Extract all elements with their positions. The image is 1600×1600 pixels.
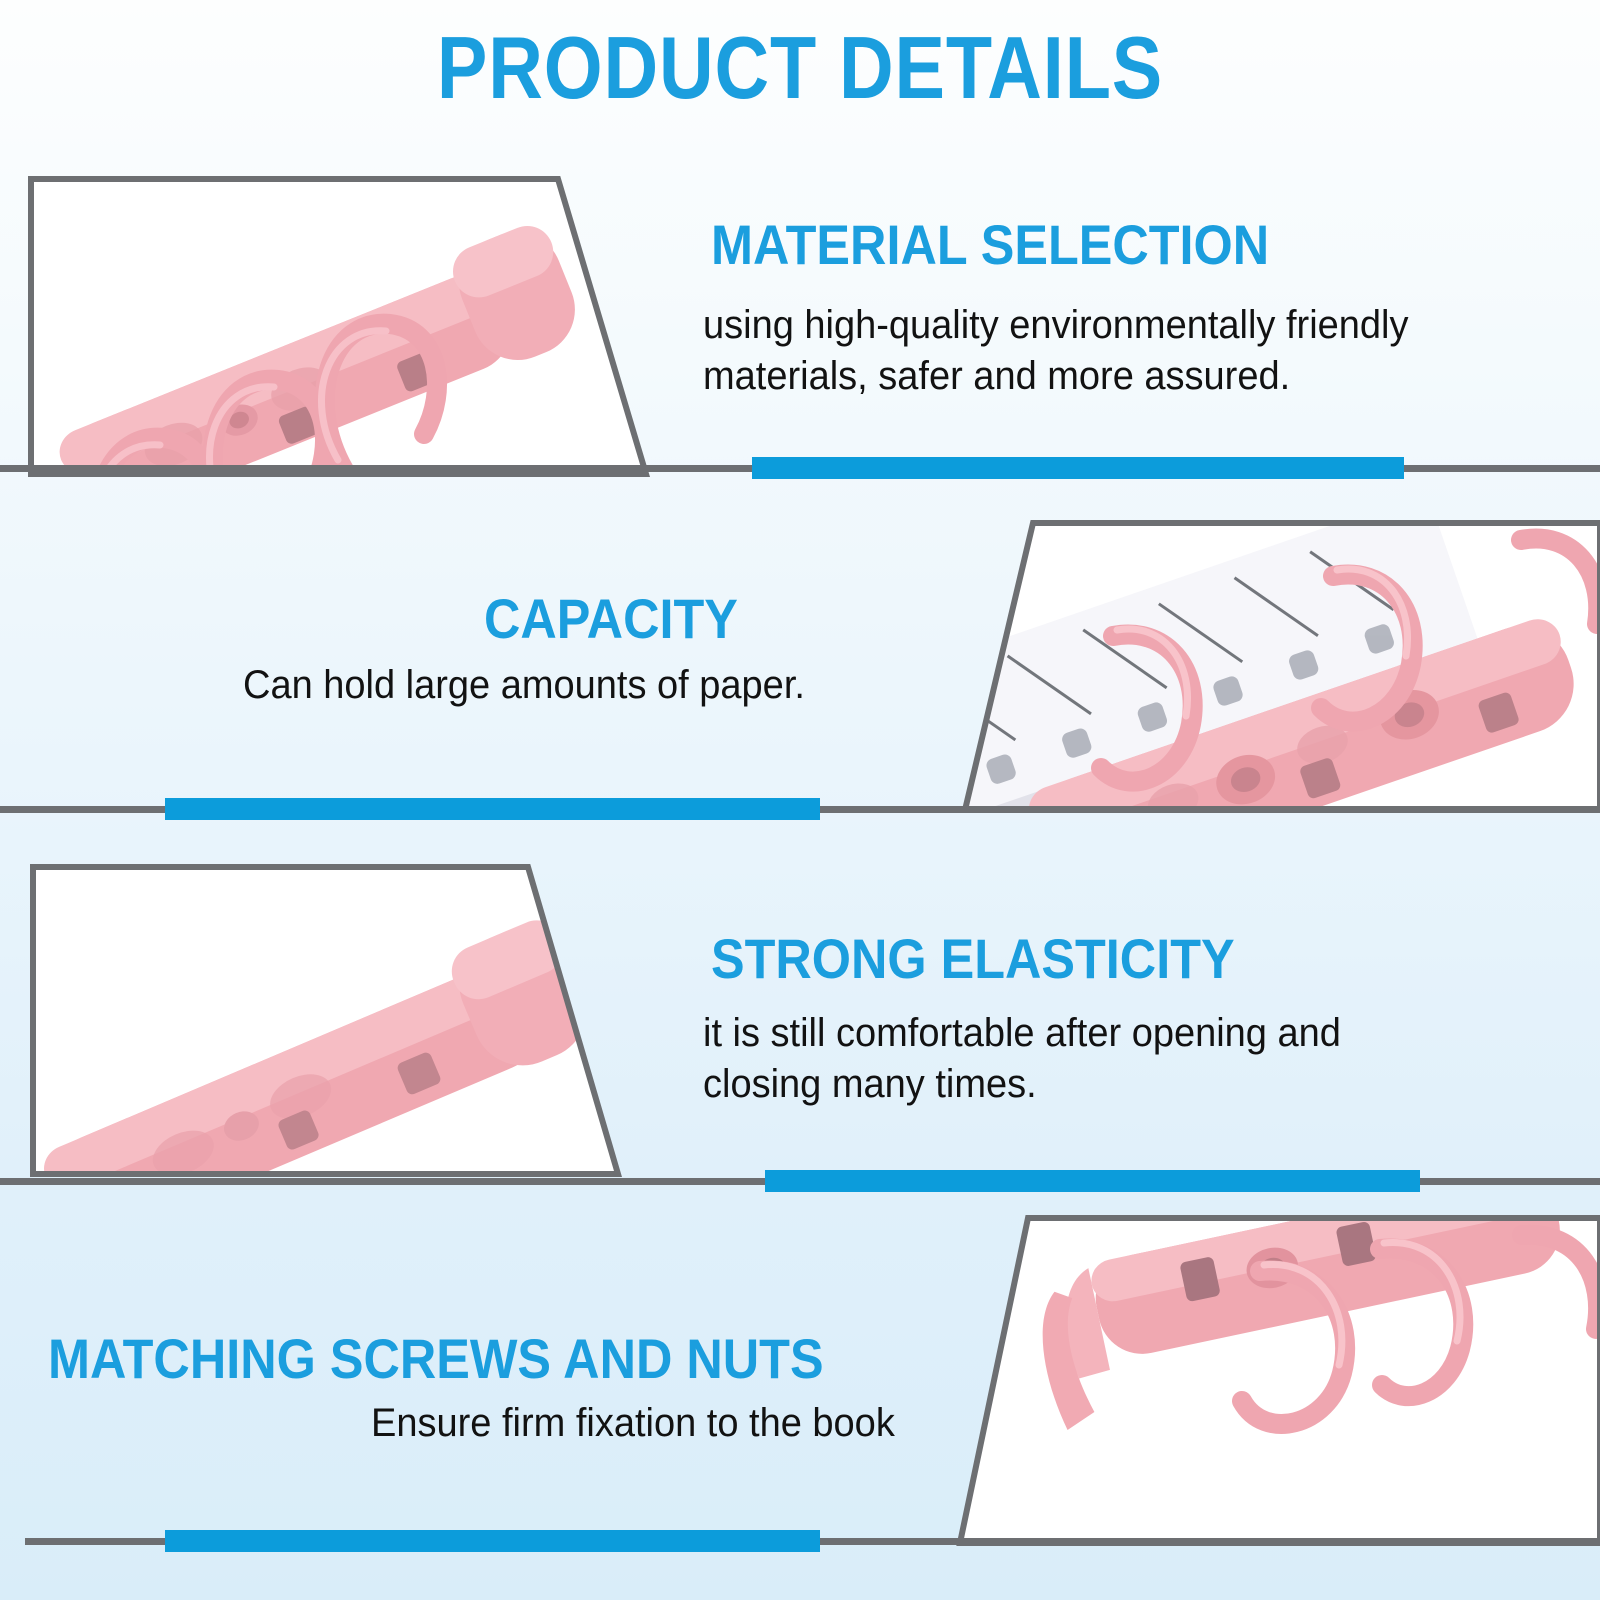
panel-clip-2: [955, 518, 1600, 818]
section-heading-strong-elasticity: STRONG ELASTICITY: [711, 930, 1235, 987]
section-body-line-1: Can hold large amounts of paper.: [243, 660, 908, 711]
section-heading-matching-screws-and-nuts: MATCHING SCREWS AND NUTS: [48, 1330, 824, 1387]
section-body-material-selection: using high-quality environmentally frien…: [703, 300, 1425, 402]
panel-clip-1: [26, 174, 656, 490]
section-image-strong-elasticity: [28, 862, 628, 1184]
section-body-line-2: closing many times.: [703, 1059, 1425, 1110]
section-body-strong-elasticity: it is still comfortable after opening an…: [703, 1008, 1425, 1110]
section-body-line-1: it is still comfortable after opening an…: [703, 1008, 1425, 1059]
section-image-capacity: [955, 518, 1600, 818]
section-accent-bar-1: [752, 457, 1404, 479]
section-image-matching-screws-and-nuts: [950, 1213, 1600, 1553]
section-image-material-selection: [26, 174, 656, 490]
section-body-line-2: materials, safer and more assured.: [703, 351, 1425, 402]
product-details-page: PRODUCT DETAILS: [0, 0, 1600, 1600]
section-body-line-1: using high-quality environmentally frien…: [703, 300, 1425, 351]
section-accent-bar-4: [165, 1530, 820, 1552]
panel-clip-4: [950, 1213, 1600, 1553]
section-accent-bar-3: [765, 1170, 1420, 1192]
section-heading-material-selection: MATERIAL SELECTION: [711, 216, 1269, 273]
section-body-capacity: Can hold large amounts of paper.: [243, 660, 908, 711]
panel-clip-3: [28, 862, 628, 1184]
section-heading-capacity: CAPACITY: [484, 590, 738, 647]
section-accent-bar-2: [165, 798, 820, 820]
page-title: PRODUCT DETAILS: [112, 24, 1488, 112]
